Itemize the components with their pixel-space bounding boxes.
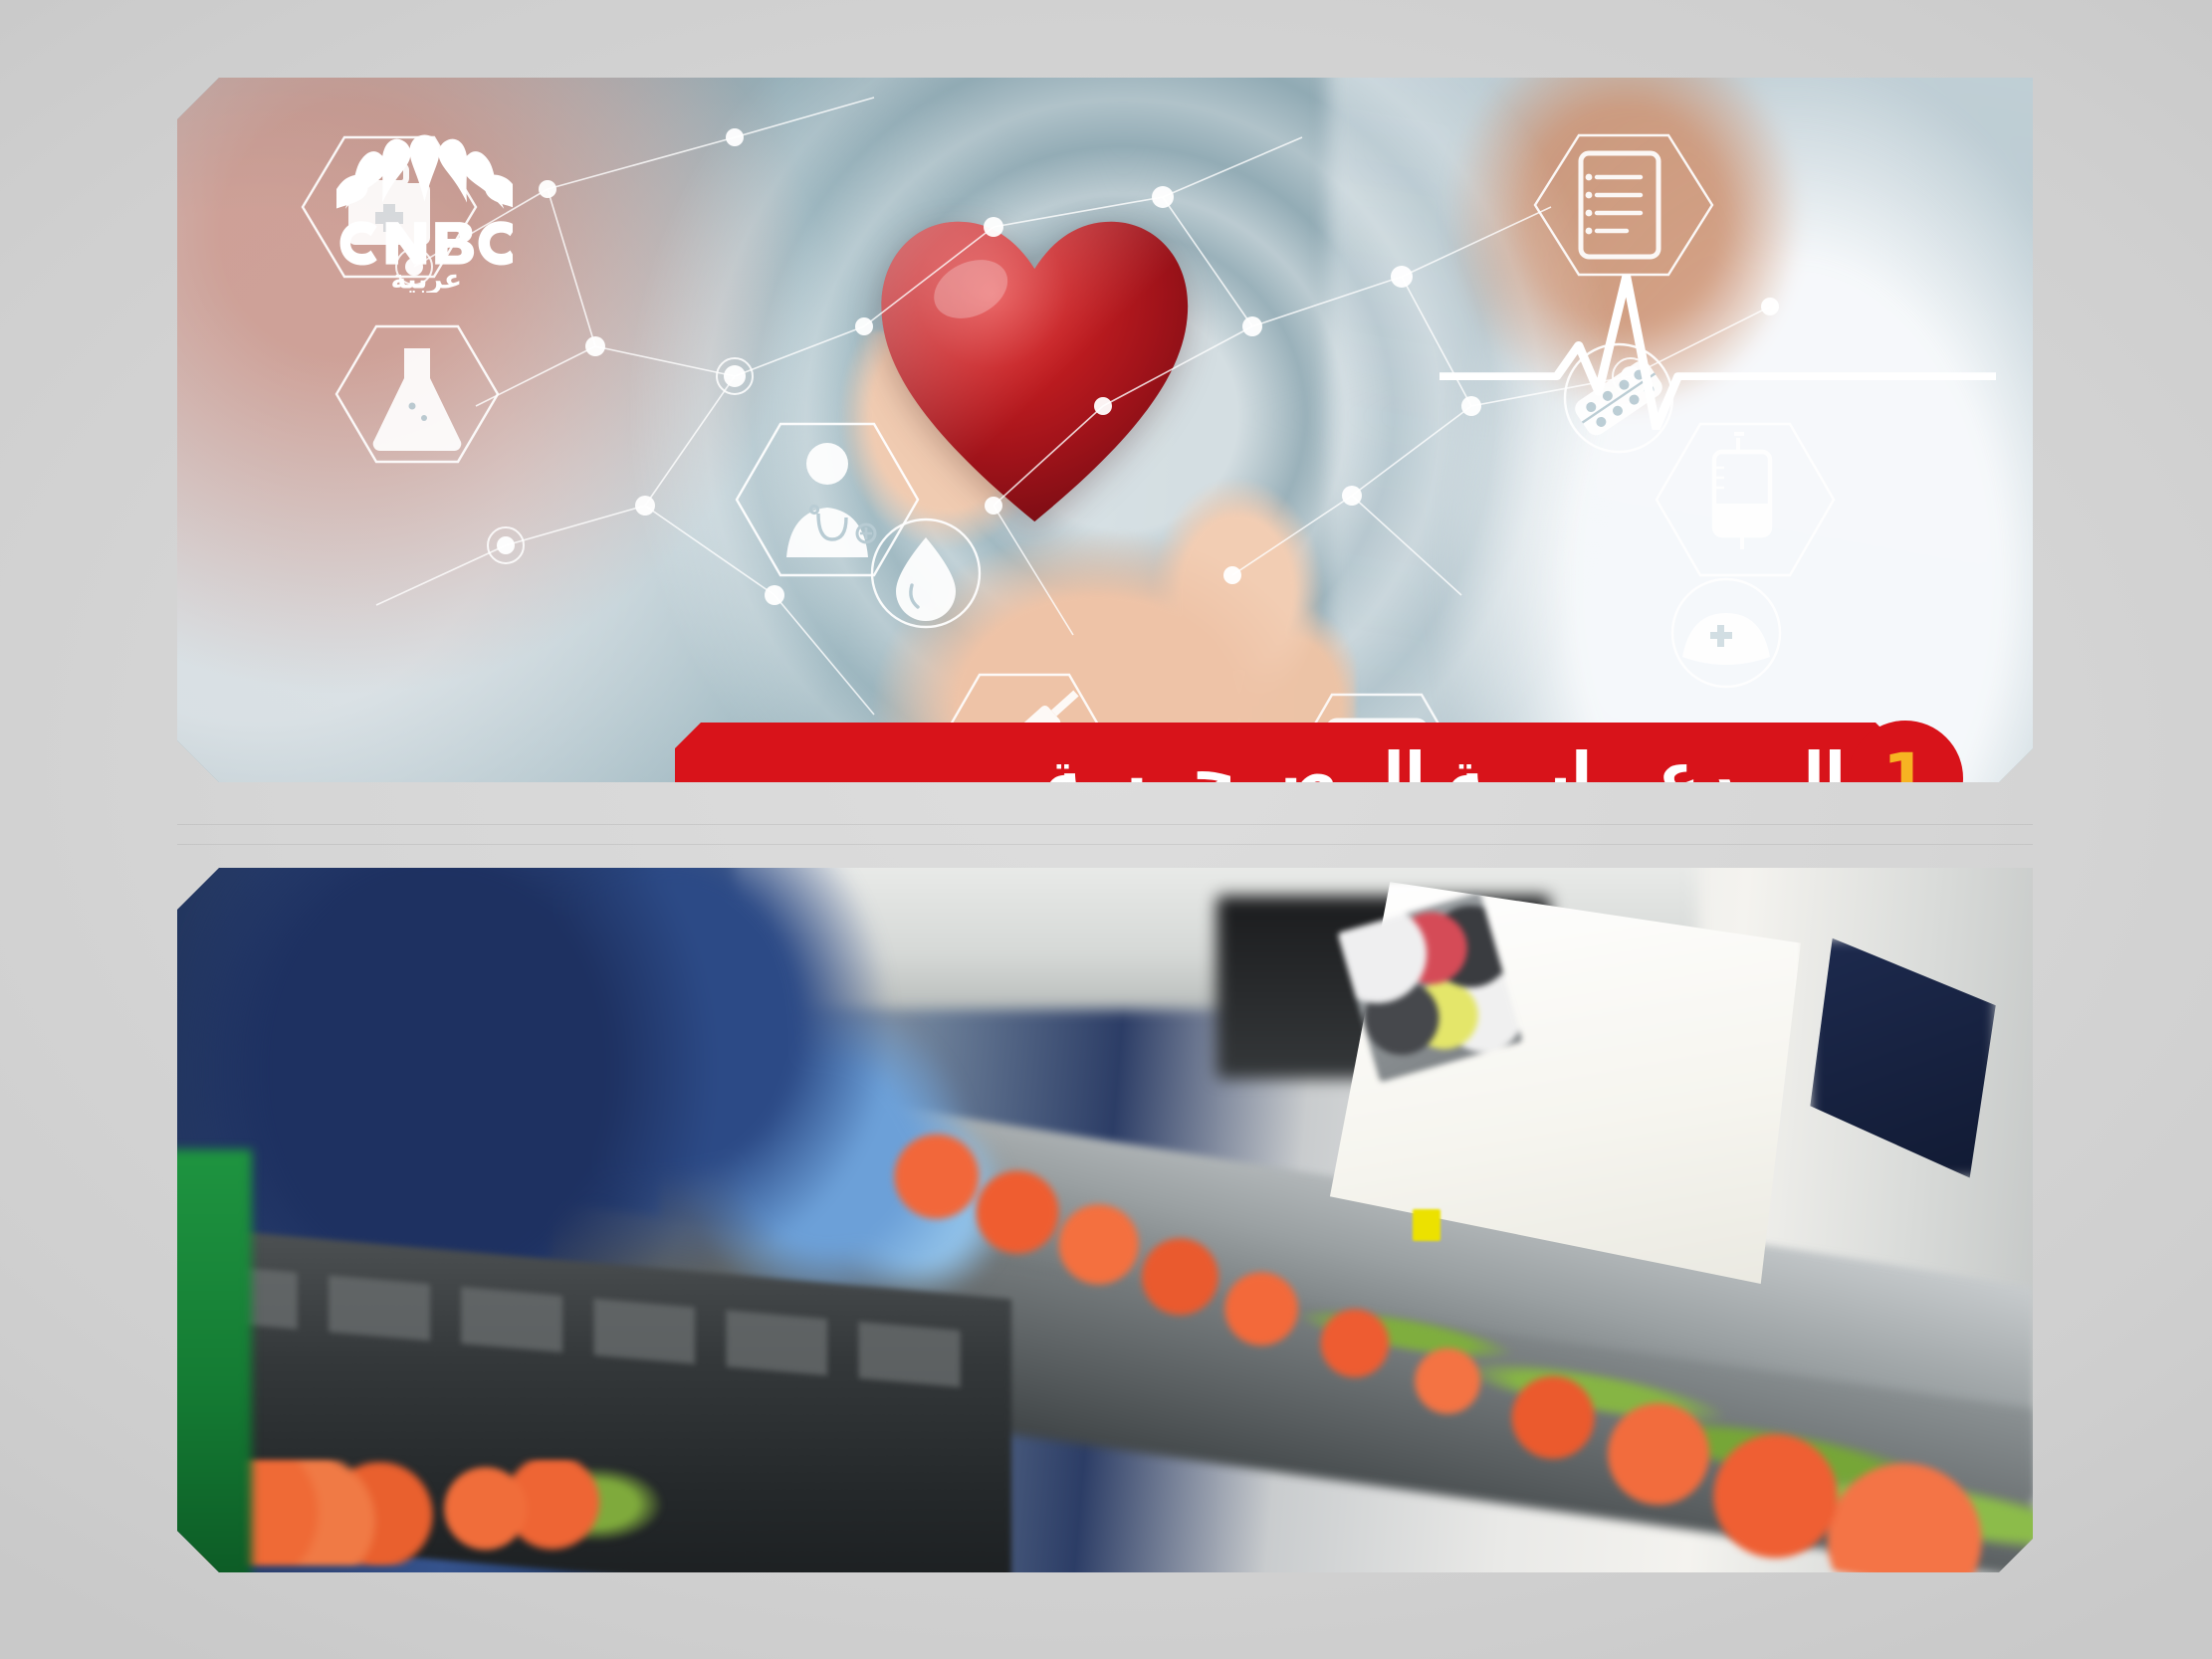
banner-title-healthcare: الـــرعـــايـــة الــصــحــيــة (675, 744, 1901, 782)
iv-bag-icon (1657, 424, 1834, 575)
nbc-peacock-icon (336, 134, 513, 218)
blood-drop-icon (872, 519, 980, 627)
food-factory-photo (177, 868, 2033, 1572)
tomatoes-in-crate (196, 1460, 753, 1565)
banner-healthcare[interactable]: الـــرعـــايـــة الــصــحــيــة 1 (675, 723, 1901, 782)
heartbeat-line-icon (1439, 275, 1996, 430)
yellow-label-sticker (1413, 1209, 1440, 1240)
cnbc-arabia-logo[interactable]: عربية (336, 123, 513, 293)
doctor-icon (737, 424, 918, 575)
clipboard-icon (1535, 135, 1712, 275)
healthcare-photo: عربية (177, 78, 2033, 782)
card-separator-line (177, 844, 2033, 845)
nurse-cap-icon (1672, 579, 1780, 687)
sector-card-food-and-beverage[interactable]: صنـاعـة الأغـذيـة والمـشـروبات 2 (177, 868, 2033, 1572)
card-separator-line (177, 824, 2033, 825)
cnbc-arabic-wordmark: عربية (391, 265, 463, 293)
green-crate-edge (177, 1149, 252, 1572)
lab-flask-icon (336, 326, 498, 462)
sector-card-healthcare[interactable]: عربية الـــرعـــايـــة الــصــحــيــة 1 (177, 78, 2033, 782)
cnbc-wordmark (340, 221, 514, 265)
slide-canvas: عربية الـــرعـــايـــة الــصــحــيــة 1 (0, 0, 2212, 1659)
